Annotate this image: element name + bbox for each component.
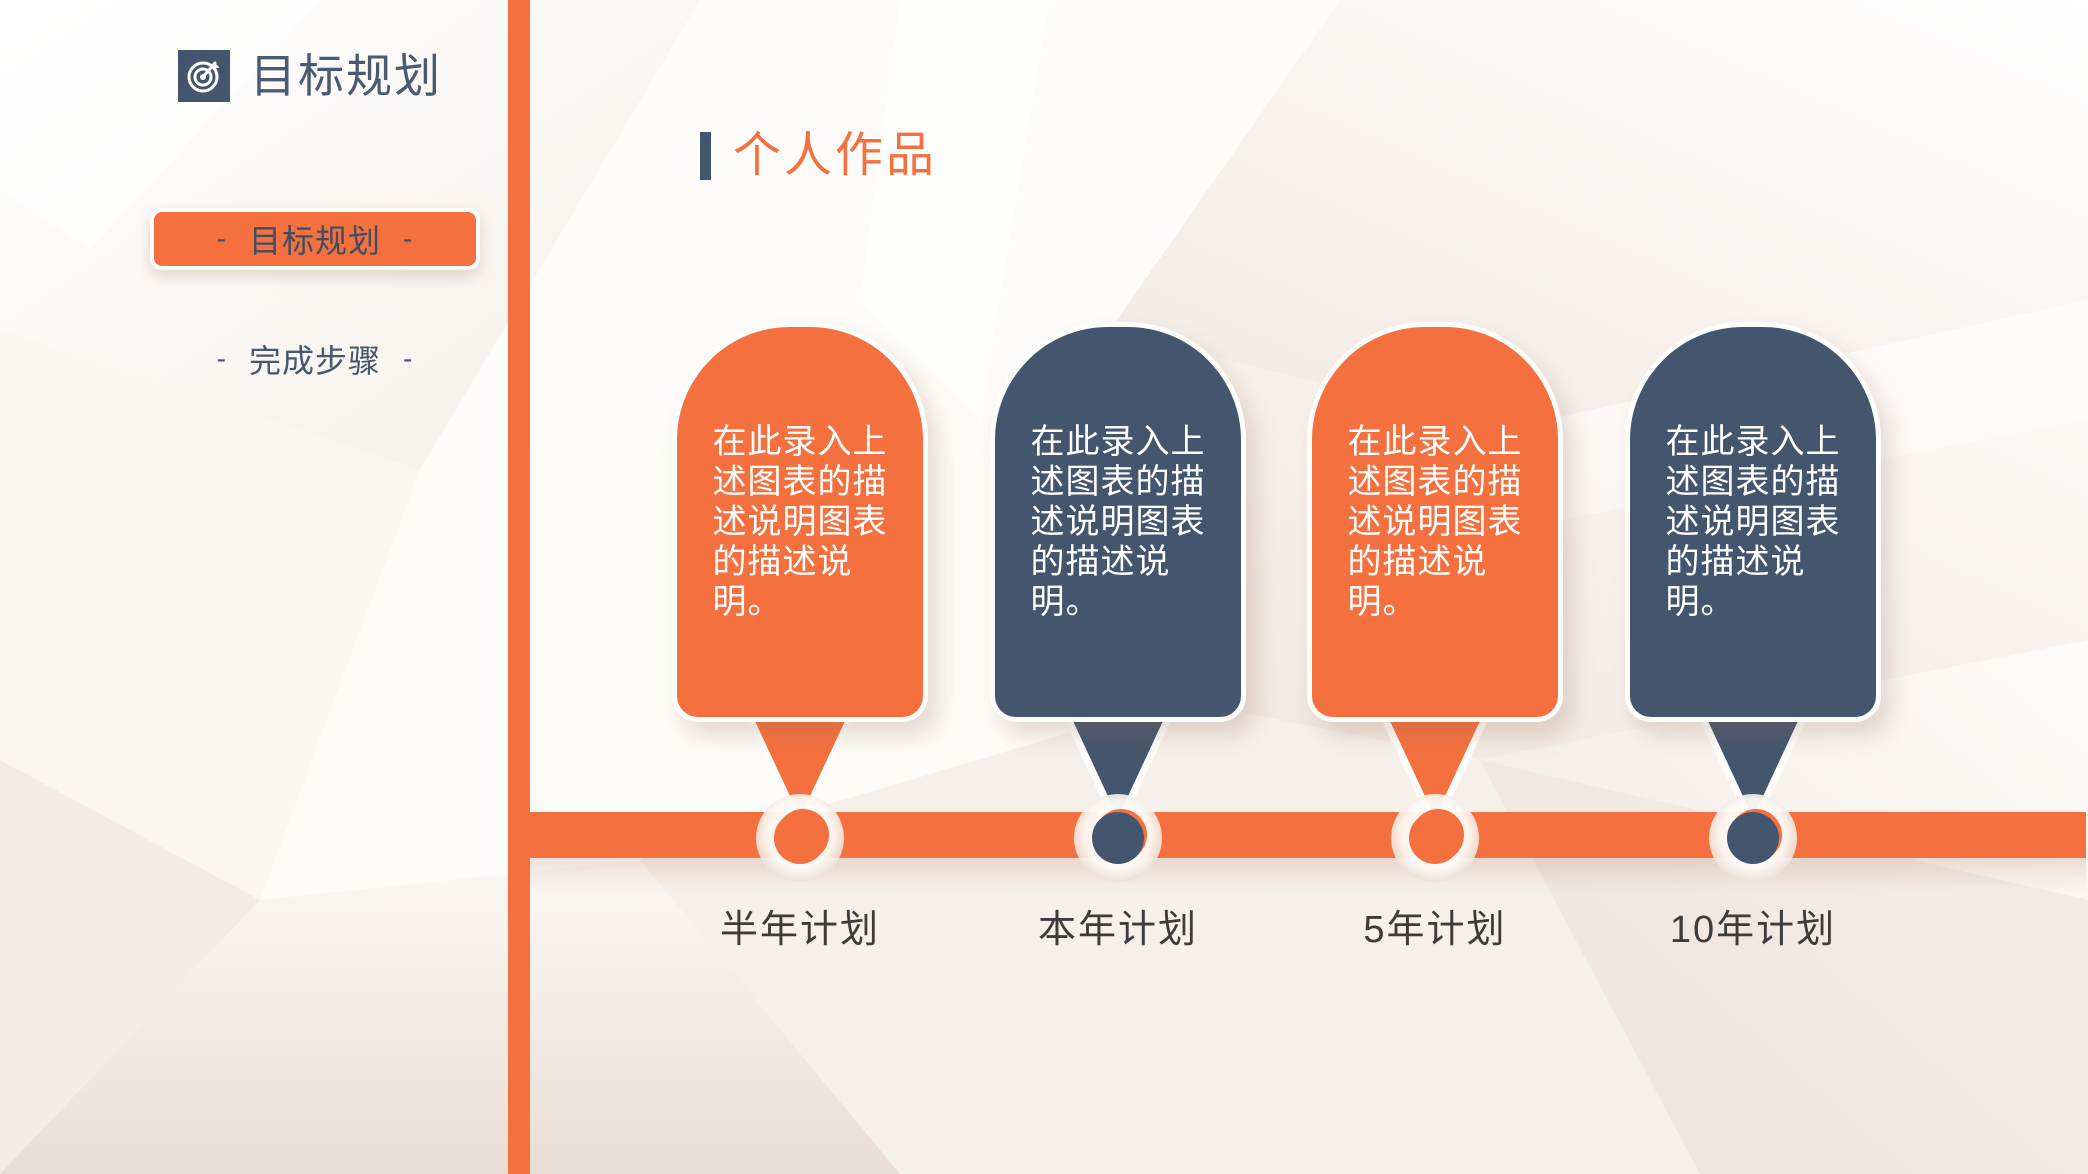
sidebar-item-goal-planning[interactable]: - 目标规划 -	[150, 208, 480, 270]
bubble-card[interactable]: 在此录入上述图表的描述说明图表的描述说明。	[1625, 322, 1881, 722]
bubble-text: 在此录入上述图表的描述说明图表的描述说明。	[1666, 422, 1841, 623]
sidebar-title: 目标规划	[178, 50, 442, 102]
sidebar-item-label: 目标规划	[249, 216, 381, 262]
sidebar-title-text: 目标规划	[250, 53, 442, 99]
marker-ring	[1724, 809, 1782, 867]
bubble-card[interactable]: 在此录入上述图表的描述说明图表的描述说明。	[1307, 322, 1563, 722]
sidebar-item-dash-left: -	[217, 223, 227, 255]
sidebar-item-dash-right: -	[403, 223, 413, 255]
bubble-card[interactable]: 在此录入上述图表的描述说明图表的描述说明。	[672, 322, 928, 722]
marker-dot	[774, 812, 826, 864]
sidebar-item-completion-steps[interactable]: - 完成步骤 -	[150, 328, 480, 390]
slide-canvas: 目标规划 - 目标规划 - - 完成步骤 - 个人作品 在此录入上述图表的描述说…	[0, 0, 2088, 1174]
target-icon	[178, 50, 230, 102]
page-title: 个人作品	[700, 132, 937, 180]
title-accent-bar	[700, 132, 711, 180]
timeline-caption: 10年计划	[1603, 898, 1903, 953]
timeline-marker[interactable]	[756, 794, 844, 882]
page-title-text: 个人作品	[733, 132, 937, 180]
sidebar-item-label: 完成步骤	[249, 336, 381, 382]
bubble-text: 在此录入上述图表的描述说明图表的描述说明。	[713, 422, 888, 623]
timeline-marker[interactable]	[1391, 794, 1479, 882]
timeline-marker[interactable]	[1074, 794, 1162, 882]
timeline-caption: 5年计划	[1285, 898, 1585, 953]
marker-dot	[1409, 812, 1461, 864]
marker-dot	[1727, 812, 1779, 864]
bubble-card[interactable]: 在此录入上述图表的描述说明图表的描述说明。	[990, 322, 1246, 722]
bubble-text: 在此录入上述图表的描述说明图表的描述说明。	[1348, 422, 1523, 623]
timeline-marker[interactable]	[1709, 794, 1797, 882]
marker-ring	[771, 809, 829, 867]
marker-dot	[1092, 812, 1144, 864]
timeline-caption: 半年计划	[650, 898, 950, 953]
bubble-text: 在此录入上述图表的描述说明图表的描述说明。	[1031, 422, 1206, 623]
sidebar-item-dash-left: -	[217, 343, 227, 375]
sidebar: 目标规划 - 目标规划 - - 完成步骤 -	[0, 0, 508, 1174]
timeline-caption: 本年计划	[968, 898, 1268, 953]
sidebar-item-dash-right: -	[403, 343, 413, 375]
marker-ring	[1089, 809, 1147, 867]
vertical-divider	[508, 0, 530, 1174]
marker-ring	[1406, 809, 1464, 867]
